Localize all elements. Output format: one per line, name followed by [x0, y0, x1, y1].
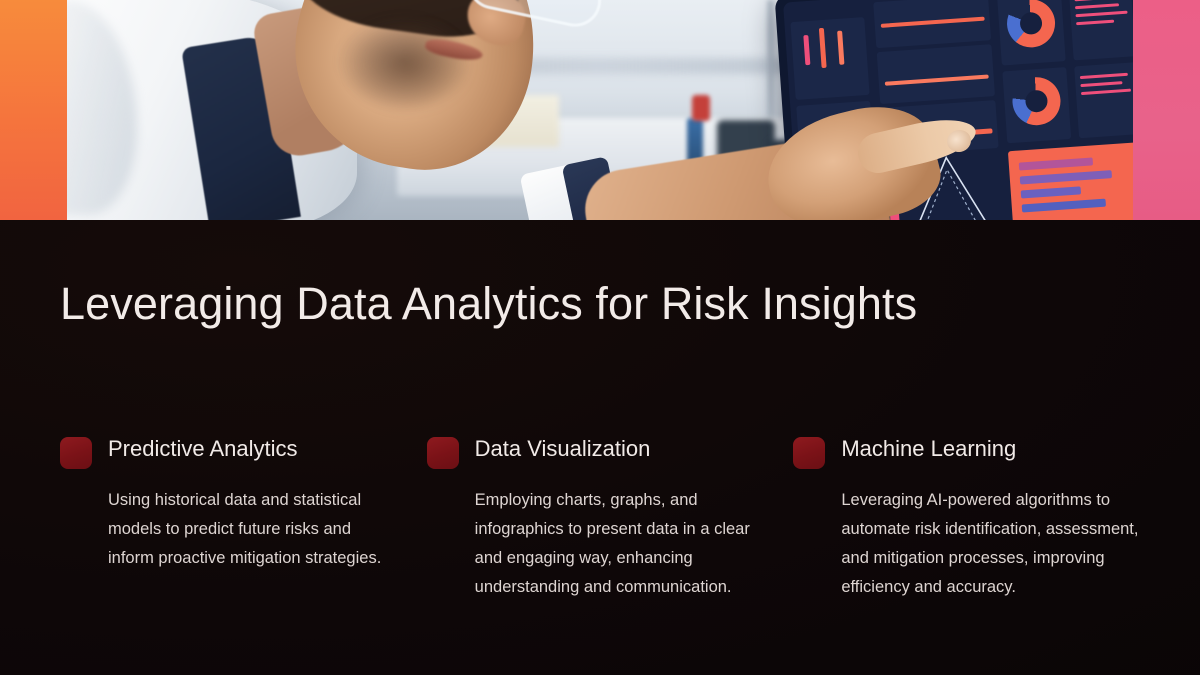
- feature-title: Predictive Analytics: [108, 434, 298, 462]
- feature-columns: Predictive Analytics Using historical da…: [60, 434, 1160, 602]
- red-rounded-square-icon: [793, 437, 825, 469]
- feature-column-predictive-analytics: Predictive Analytics Using historical da…: [60, 434, 427, 602]
- lab-coat-fold: [67, 0, 137, 215]
- lab-bottle-cap: [692, 95, 710, 121]
- dashboard-panel: [790, 17, 869, 100]
- dashboard-panel: [1069, 0, 1133, 61]
- red-rounded-square-icon: [60, 437, 92, 469]
- presentation-slide: Leveraging Data Analytics for Risk Insig…: [0, 0, 1200, 675]
- feature-header: Predictive Analytics: [60, 434, 427, 469]
- feature-column-data-visualization: Data Visualization Employing charts, gra…: [427, 434, 794, 602]
- page-title: Leveraging Data Analytics for Risk Insig…: [60, 278, 917, 330]
- jaw-shadow: [319, 22, 497, 132]
- hero-accent-bar-left: [0, 0, 67, 220]
- hero-accent-bar-right: [1133, 0, 1200, 220]
- feature-header: Machine Learning: [793, 434, 1160, 469]
- feature-body: Using historical data and statistical mo…: [60, 486, 427, 573]
- feature-header: Data Visualization: [427, 434, 794, 469]
- hero-image: [0, 0, 1200, 220]
- feature-column-machine-learning: Machine Learning Leveraging AI-powered a…: [793, 434, 1160, 602]
- hero-photograph: [67, 0, 1133, 220]
- red-rounded-square-icon: [427, 437, 459, 469]
- dashboard-panel: [877, 44, 995, 104]
- feature-body: Leveraging AI-powered algorithms to auto…: [793, 486, 1160, 602]
- feature-title: Machine Learning: [841, 434, 1016, 462]
- feature-title: Data Visualization: [475, 434, 651, 462]
- feature-body: Employing charts, graphs, and infographi…: [427, 486, 794, 602]
- dashboard-highlight-card: [1008, 142, 1133, 220]
